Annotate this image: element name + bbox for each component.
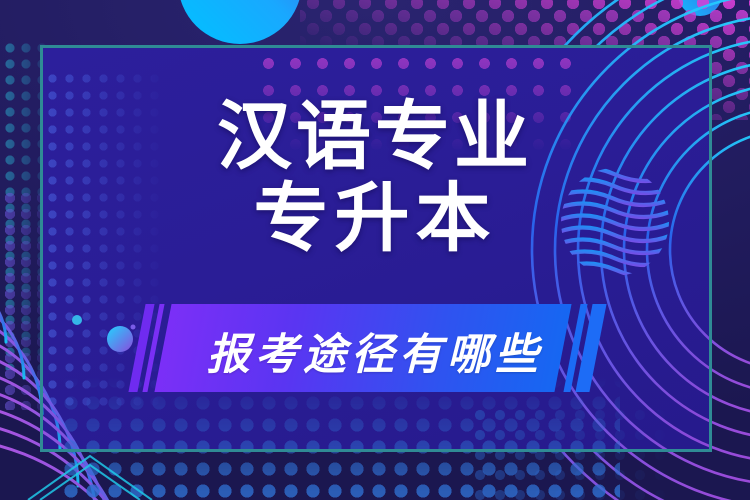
poster-canvas: 汉语专业 专升本 报考途径有哪些	[0, 0, 750, 500]
subtitle-text: 报考途径有哪些	[0, 296, 750, 406]
title-line-1: 汉语专业	[0, 100, 750, 172]
main-title: 汉语专业 专升本	[0, 100, 750, 254]
bottom-right-dot-field	[470, 405, 750, 500]
title-line-2: 专升本	[0, 182, 750, 254]
